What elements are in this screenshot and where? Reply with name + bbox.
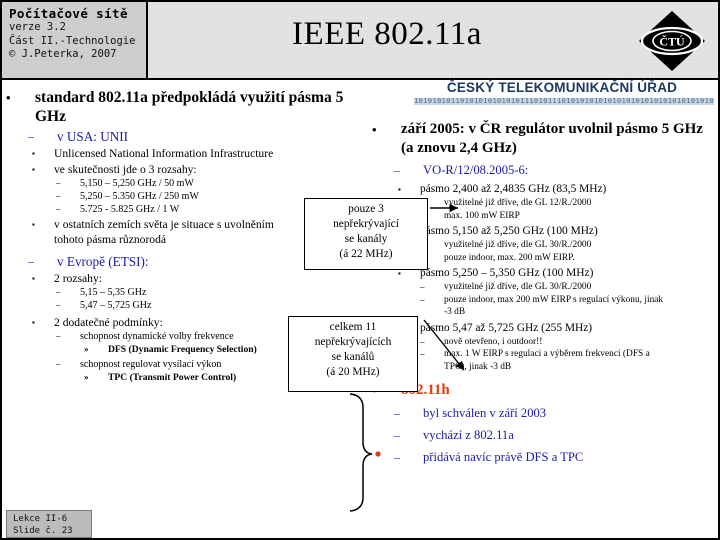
connector-brace [350,394,372,511]
bullet-dash-icon: – [56,330,61,343]
list-item: – využitelné již dříve, dle GL 12/R./200… [420,197,718,210]
bullet-guillemet-icon: » [84,343,89,356]
list-item: ▪ pásmo 5,150 až 5,250 GHz (100 MHz) [398,224,718,239]
ctu-banner-text: ČESKÝ TELEKOMUNIKAČNÍ ÚŘAD [406,80,718,95]
list-item-label: byl schválen v září 2003 [423,406,546,420]
bullet-dash-icon: – [56,177,61,190]
course-version: verze 3.2 [9,21,146,35]
bullet-dot-icon: • [372,120,377,139]
bullet-dash-icon: – [56,203,61,216]
list-item-label: TPC (Transmit Power Control) [108,372,236,383]
list-item-label: 5,250 – 5.350 GHz / 250 mW [80,191,199,202]
list-item-label: 2 dodatečné podmínky: [54,316,163,329]
ctu-banner-bits: 1010101011010101010101011101011101010101… [414,98,714,105]
course-info-block: Počítačové sítě verze 3.2 Část II.-Techn… [2,2,148,78]
callout-line: nepřekrývajících [293,335,413,350]
list-item-label: pásmo 5,250 – 5,350 GHz (100 MHz) [420,267,593,279]
list-item-label: využitelné již dříve, dle GL 12/R./2000 [444,198,591,208]
list-item: – využitelné již dříve, dle GL 30/R./200… [420,239,718,252]
bullet-square-icon: ▪ [398,182,401,198]
bullet-square-icon: ▪ [32,162,35,178]
list-item-label: 5,150 – 5,250 GHz / 50 mW [80,178,194,189]
list-item: – v USA: UNII [28,128,358,145]
bullet-dash-icon: – [394,427,400,444]
callout-box-22mhz: pouze 3 nepřekrývající se kanály (á 22 M… [304,198,428,270]
list-item: – přidává navíc právě DFS a TPC [394,449,718,466]
slide-header: Počítačové sítě verze 3.2 Část II.-Techn… [2,2,718,80]
slide-number-badge: Lekce II-6 Slide č. 23 [6,510,92,538]
list-item-label: 2 rozsahy: [54,272,102,285]
list-item: ▪ ve skutečnosti jde o 3 rozsahy: [32,162,358,177]
list-item-label: v Evropě (ETSI): [57,254,149,269]
list-item-label: schopnost regulovat vysílací výkon [80,359,221,370]
bullet-dash-icon: – [394,449,400,466]
list-item-label: v ostatních zemích světa je situace s uv… [54,218,274,246]
lecture-label: Lekce II-6 [13,513,91,525]
list-item-label: max. 100 mW EIRP [444,211,520,221]
list-item-label: využitelné již dříve, dle GL 30/R./2000 [444,282,591,292]
list-item: – 5,47 – 5,725 GHz [56,299,358,312]
bullet-dash-icon: – [420,336,425,349]
callout-line: se kanálů [293,350,413,365]
list-item-label: 5,47 – 5,725 GHz [80,300,151,311]
callout-line: celkem 11 [293,320,413,335]
list-item: ▪ pásmo 5,250 – 5,350 GHz (100 MHz) [398,266,718,281]
slide: Počítačové sítě verze 3.2 Část II.-Techn… [0,0,720,540]
list-item: – byl schválen v září 2003 [394,405,718,422]
list-item-label: VO-R/12/08.2005-6: [423,163,528,177]
bullet-guillemet-icon: » [84,371,89,384]
list-item: – pouze indoor, max. 200 mW EIRP. [420,252,718,265]
list-item-label: v USA: UNII [57,129,128,144]
bullet-square-icon: ▪ [32,315,35,331]
section-heading-80211h: • 802.11h [372,381,718,400]
ctu-logo-icon: ČTÚ [638,10,706,72]
list-item-label: využitelné již dříve, dle GL 30/R./2000 [444,240,591,250]
bullet-dash-icon: – [394,162,400,179]
callout-line: (á 22 MHz) [309,247,423,262]
svg-text:ČTÚ: ČTÚ [659,35,685,49]
bullet-square-icon: ▪ [32,217,35,233]
list-item: – VO-R/12/08.2005-6: [394,162,718,179]
list-item-label: Unlicensed National Information Infrastr… [54,147,273,160]
list-item-label: nově otevřeno, i outdoor!! [444,337,542,347]
list-item-label: přidává navíc právě DFS a TPC [423,450,583,464]
list-item-label: standard 802.11a předpokládá využití pás… [35,89,343,125]
bullet-dash-icon: – [28,128,34,145]
bullet-square-icon: ▪ [32,146,35,162]
bullet-dash-icon: – [28,253,34,270]
list-item-label: vychází z 802.11a [423,428,514,442]
bullet-dash-icon: – [420,348,425,361]
list-item-label: 5,15 – 5,35 GHz [80,287,146,298]
bullet-dash-icon: – [420,294,425,307]
ctu-banner: ČESKÝ TELEKOMUNIKAČNÍ ÚŘAD 1010101011010… [406,80,718,110]
bullet-dash-icon: – [394,405,400,422]
bullet-dash-icon: – [56,286,61,299]
list-item: ▪ pásmo 2,400 až 2,4835 GHz (83,5 MHz) [398,182,718,197]
list-item-label: schopnost dynamické volby frekvence [80,331,234,342]
list-item-label: pouze indoor, max 200 mW EIRP s regulací… [444,295,663,318]
bullet-dot-icon: • [6,88,11,107]
list-item: ▪ pásmo 5,47 až 5,725 GHz (255 MHz) [398,321,718,336]
list-item: – 5,150 – 5,250 GHz / 50 mW [56,177,358,190]
list-item: – využitelné již dříve, dle GL 30/R./200… [420,281,718,294]
list-item: • září 2005: v ČR regulátor uvolnil pásm… [372,120,718,158]
list-item: ▪ v ostatních zemích světa je situace s … [32,217,304,247]
bullet-dash-icon: – [56,358,61,371]
list-item: • standard 802.11a předpokládá využití p… [6,88,358,126]
list-item: – 5,15 – 5,35 GHz [56,286,358,299]
course-author: © J.Peterka, 2007 [9,48,146,62]
list-item: – max. 1 W EIRP s regulací a výběrem fre… [420,348,672,373]
list-item-label: pásmo 5,150 až 5,250 GHz (100 MHz) [420,225,598,237]
bullet-square-icon: ▪ [32,271,35,287]
list-item-label: DFS (Dynamic Frequency Selection) [108,344,257,355]
page-title: IEEE 802.11a [152,16,622,53]
callout-line: se kanály [309,232,423,247]
list-item: ▪ Unlicensed National Information Infras… [32,146,358,161]
list-item-label: pásmo 2,400 až 2,4835 GHz (83,5 MHz) [420,183,606,195]
list-item-label: ve skutečnosti jde o 3 rozsahy: [54,163,197,176]
list-item: – nově otevřeno, i outdoor!! [420,336,718,349]
bullet-dash-icon: – [56,190,61,203]
list-item-label: pouze indoor, max. 200 mW EIRP. [444,253,575,263]
bullet-dash-icon: – [420,281,425,294]
list-item: – pouze indoor, max 200 mW EIRP s regula… [420,294,672,319]
callout-line: pouze 3 [309,202,423,217]
callout-box-20mhz: celkem 11 nepřekrývajících se kanálů (á … [288,316,418,392]
list-item: – vychází z 802.11a [394,427,718,444]
right-content-column: • září 2005: v ČR regulátor uvolnil pásm… [372,120,718,466]
list-item-label: max. 1 W EIRP s regulací a výběrem frekv… [444,349,650,372]
callout-line: (á 20 MHz) [293,365,413,380]
bullet-dash-icon: – [56,299,61,312]
list-item-label: pásmo 5,47 až 5,725 GHz (255 MHz) [420,322,592,334]
list-item: ▪ 2 rozsahy: [32,271,358,286]
right-bullet-list: • září 2005: v ČR regulátor uvolnil pásm… [372,120,718,466]
callout-line: nepřekrývající [309,217,423,232]
course-title: Počítačové sítě [9,6,146,21]
slide-number-label: Slide č. 23 [13,525,91,537]
list-item: – max. 100 mW EIRP [420,210,718,223]
list-item-label: září 2005: v ČR regulátor uvolnil pásmo … [401,121,703,156]
list-item-label: 5.725 - 5.825 GHz / 1 W [80,204,179,215]
course-part: Část II.-Technologie [9,35,146,49]
